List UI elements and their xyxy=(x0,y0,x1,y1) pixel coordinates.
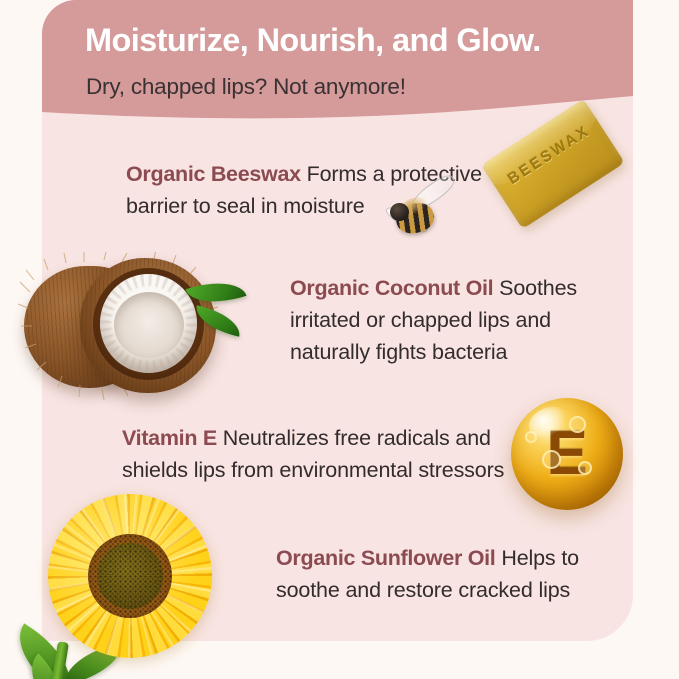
page-title: Moisturize, Nourish, and Glow. xyxy=(85,23,625,57)
bee-image xyxy=(378,186,452,248)
ingredient-text-beeswax: Organic Beeswax Forms a protective barri… xyxy=(126,158,536,222)
beeswax-bar-image: BEESWAX xyxy=(486,120,636,250)
header-wave-shape xyxy=(42,0,633,140)
ingredient-name-beeswax: Organic Beeswax xyxy=(126,162,301,186)
ingredient-text-sunflower-oil: Organic Sunflower Oil Helps to soothe an… xyxy=(276,542,633,606)
vitamin-e-bubble-2 xyxy=(542,450,561,469)
ingredient-text-vitamin-e: Vitamin E Neutralizes free radicals and … xyxy=(122,422,562,486)
coconut-hollow-center xyxy=(114,292,184,358)
vitamin-e-bubble-1 xyxy=(569,416,586,433)
page-subtitle: Dry, chapped lips? Not anymore! xyxy=(86,74,406,100)
ingredient-name-sunflower-oil: Organic Sunflower Oil xyxy=(276,546,495,570)
bee-head xyxy=(390,203,409,221)
vitamin-e-capsule-image: E xyxy=(511,398,623,510)
header-band: Moisturize, Nourish, and Glow. Dry, chap… xyxy=(42,0,633,140)
coconut-image xyxy=(18,252,238,402)
infographic-stage: Moisturize, Nourish, and Glow. Dry, chap… xyxy=(0,0,679,679)
vitamin-e-bubble-3 xyxy=(578,461,592,475)
sunflower-seed-texture xyxy=(88,534,172,618)
sunflower-image xyxy=(0,492,240,679)
ingredient-text-coconut-oil: Organic Coconut Oil Soothes irritated or… xyxy=(290,272,633,368)
ingredient-name-vitamin-e: Vitamin E xyxy=(122,426,217,450)
ingredient-name-coconut-oil: Organic Coconut Oil xyxy=(290,276,493,300)
